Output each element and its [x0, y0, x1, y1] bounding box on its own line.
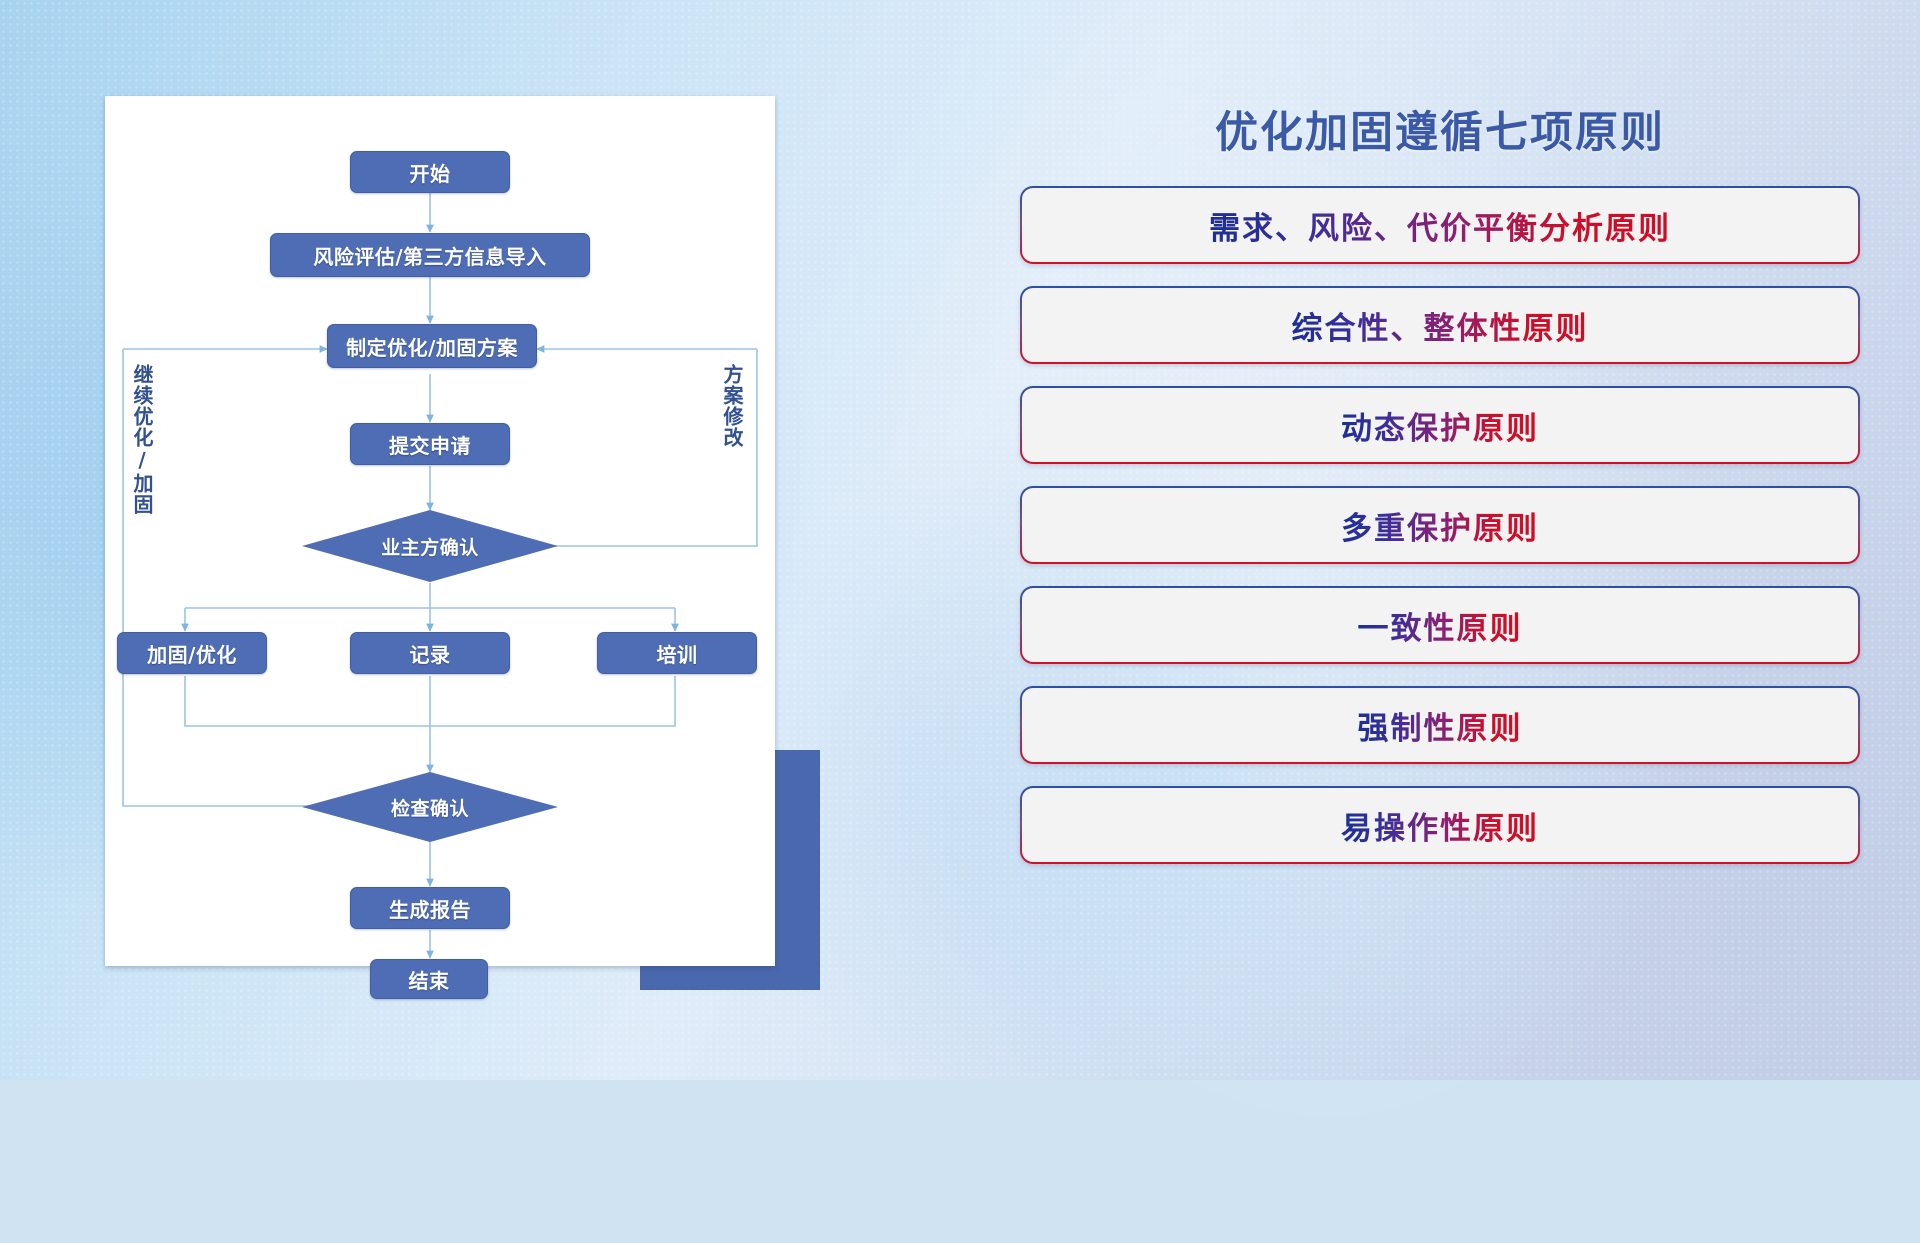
- flow-node-record[interactable]: 记录: [350, 632, 510, 674]
- flow-node-end[interactable]: 结束: [370, 959, 488, 999]
- flow-node-risk-assessment[interactable]: 风险评估/第三方信息导入: [270, 233, 590, 277]
- principle-card-7[interactable]: 易操作性原则: [1020, 786, 1860, 864]
- flow-node-reinforce-optimize-label: 加固/优化: [147, 639, 237, 668]
- flow-node-make-plan[interactable]: 制定优化/加固方案: [327, 324, 537, 368]
- flow-node-inspection-confirm-label: 检查确认: [391, 794, 469, 821]
- flow-node-submit-application-label: 提交申请: [389, 430, 471, 459]
- principle-card-7-inner: 易操作性原则: [1022, 788, 1858, 862]
- edge-label-continue-optimize: 继续优化/加固: [131, 364, 152, 515]
- principle-card-1-label: 需求、风险、代价平衡分析原则: [1209, 203, 1671, 248]
- flowchart-card: 开始 风险评估/第三方信息导入 制定优化/加固方案 提交申请 业主方确认 加固/…: [105, 96, 775, 966]
- flow-node-owner-confirm-label: 业主方确认: [381, 533, 479, 560]
- principle-card-5-inner: 一致性原则: [1022, 588, 1858, 662]
- principle-card-2-inner: 综合性、整体性原则: [1022, 288, 1858, 362]
- principle-card-2[interactable]: 综合性、整体性原则: [1020, 286, 1860, 364]
- principle-card-3[interactable]: 动态保护原则: [1020, 386, 1860, 464]
- principle-card-6[interactable]: 强制性原则: [1020, 686, 1860, 764]
- flow-node-start-label: 开始: [410, 158, 451, 187]
- flow-node-training[interactable]: 培训: [597, 632, 757, 674]
- flow-node-record-label: 记录: [410, 639, 451, 668]
- flow-node-start[interactable]: 开始: [350, 151, 510, 193]
- principle-card-1[interactable]: 需求、风险、代价平衡分析原则: [1020, 186, 1860, 264]
- page-title: 优化加固遵循七项原则: [1020, 98, 1860, 160]
- principle-card-3-label: 动态保护原则: [1341, 403, 1539, 448]
- flow-node-inspection-confirm[interactable]: 检查确认: [302, 772, 558, 842]
- principle-card-1-inner: 需求、风险、代价平衡分析原则: [1022, 188, 1858, 262]
- flow-node-end-label: 结束: [409, 965, 450, 994]
- principle-card-4-label: 多重保护原则: [1341, 503, 1539, 548]
- principle-card-6-inner: 强制性原则: [1022, 688, 1858, 762]
- flow-node-owner-confirm[interactable]: 业主方确认: [302, 510, 558, 582]
- flow-node-reinforce-optimize[interactable]: 加固/优化: [117, 632, 267, 674]
- flow-node-make-plan-label: 制定优化/加固方案: [346, 332, 518, 361]
- edge-label-plan-revision: 方案修改: [721, 364, 742, 448]
- principle-card-3-inner: 动态保护原则: [1022, 388, 1858, 462]
- principle-card-5[interactable]: 一致性原则: [1020, 586, 1860, 664]
- flow-node-submit-application[interactable]: 提交申请: [350, 423, 510, 465]
- flow-node-risk-assessment-label: 风险评估/第三方信息导入: [313, 241, 546, 270]
- principle-card-5-label: 一致性原则: [1358, 603, 1523, 648]
- principle-card-4[interactable]: 多重保护原则: [1020, 486, 1860, 564]
- principle-card-7-label: 易操作性原则: [1341, 803, 1539, 848]
- flow-node-generate-report-label: 生成报告: [389, 894, 471, 923]
- principle-card-4-inner: 多重保护原则: [1022, 488, 1858, 562]
- flow-node-generate-report[interactable]: 生成报告: [350, 887, 510, 929]
- principles-panel: 优化加固遵循七项原则 需求、风险、代价平衡分析原则 综合性、整体性原则 动态保护…: [1020, 84, 1860, 1014]
- principle-card-2-label: 综合性、整体性原则: [1292, 303, 1589, 348]
- flow-node-training-label: 培训: [657, 639, 698, 668]
- principle-card-6-label: 强制性原则: [1358, 703, 1523, 748]
